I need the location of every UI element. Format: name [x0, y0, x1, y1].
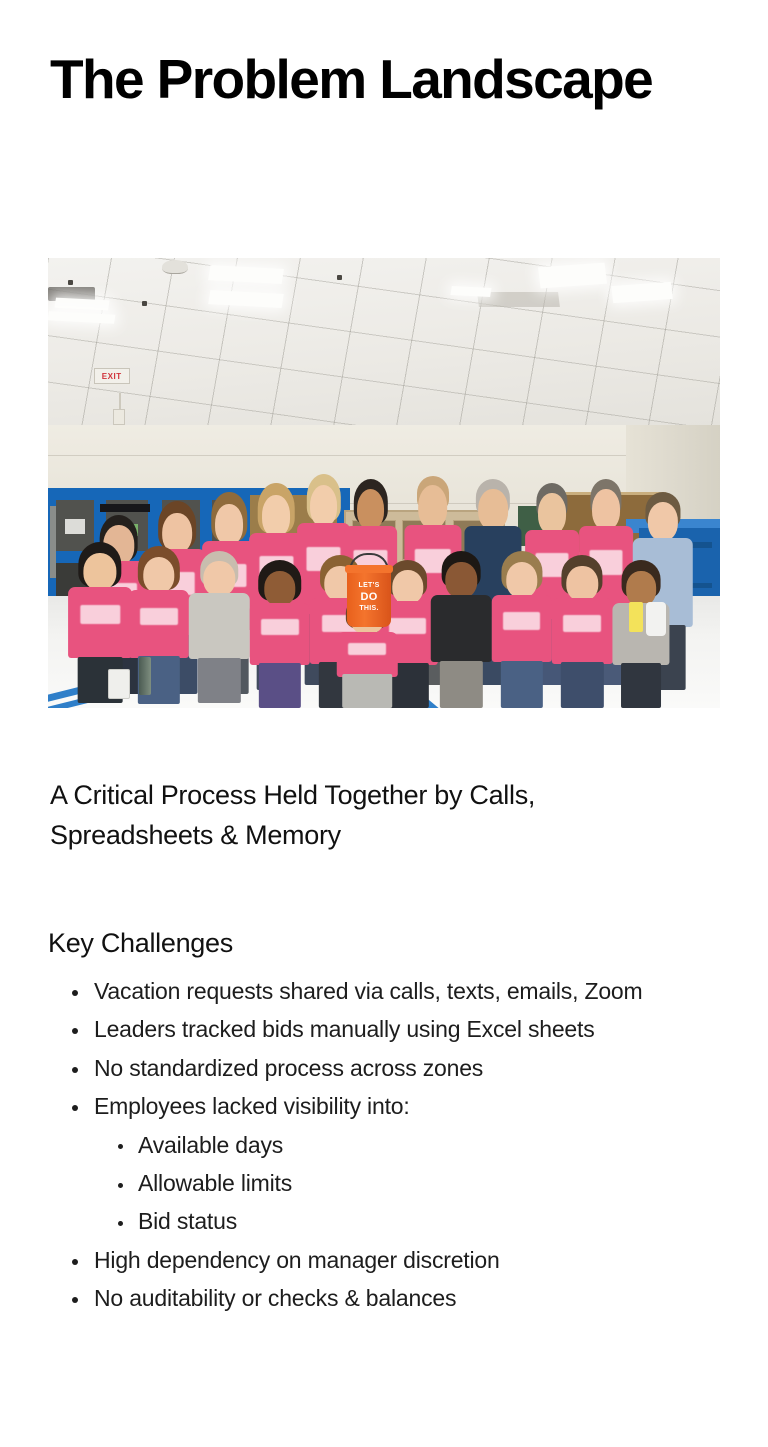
person	[552, 555, 612, 708]
bullet-point-icon	[118, 1183, 123, 1188]
challenge-item-label: No auditability or checks & balances	[94, 1285, 456, 1311]
challenge-item: High dependency on manager discretion	[68, 1241, 738, 1279]
challenge-item-label: Vacation requests shared via calls, text…	[94, 978, 642, 1004]
bullet-point-icon	[118, 1221, 123, 1226]
challenge-bullet-list: Vacation requests shared via calls, text…	[48, 972, 738, 1318]
challenge-item: Leaders tracked bids manually using Exce…	[68, 1010, 738, 1048]
paint-can	[108, 669, 130, 699]
challenge-sub-list: Available daysAllowable limitsBid status	[94, 1126, 738, 1241]
challenge-sub-item: Allowable limits	[116, 1164, 738, 1202]
challenge-item-label: No standardized process across zones	[94, 1055, 483, 1081]
bullet-point-icon	[118, 1144, 123, 1149]
person	[250, 560, 310, 709]
bullet-point-icon	[72, 990, 78, 996]
challenge-sub-item: Bid status	[116, 1202, 738, 1240]
spray-bottle	[629, 602, 643, 632]
slide-subtitle: A Critical Process Held Together by Call…	[50, 776, 700, 856]
challenge-item: No auditability or checks & balances	[68, 1279, 738, 1317]
bucket-text-do: DO	[347, 591, 391, 605]
slide-page: The Problem Landscape	[0, 0, 768, 1447]
bullet-point-icon	[72, 1297, 78, 1303]
volunteer-group: LET'S DO THIS.	[48, 258, 720, 708]
supply-bag	[646, 602, 666, 636]
page-title: The Problem Landscape	[50, 44, 710, 114]
bullet-point-icon	[72, 1067, 78, 1073]
person	[189, 551, 249, 704]
challenge-sub-item-label: Available days	[138, 1132, 283, 1158]
bucket-text-this: THIS.	[359, 605, 378, 612]
group-photo: EXIT	[48, 258, 720, 708]
challenge-item: No standardized process across zones	[68, 1049, 738, 1087]
bullet-point-icon	[72, 1259, 78, 1265]
person	[492, 551, 552, 709]
challenge-item-label: Employees lacked visibility into:	[94, 1093, 410, 1119]
challenge-item-label: High dependency on manager discretion	[94, 1247, 500, 1273]
water-bottle	[139, 657, 151, 695]
bucket-text-lets: LET'S	[359, 582, 380, 589]
person	[431, 551, 491, 709]
photo-canvas: EXIT	[48, 258, 720, 708]
key-challenges-list: Vacation requests shared via calls, text…	[48, 972, 738, 1318]
challenge-item: Employees lacked visibility into:Availab…	[68, 1087, 738, 1241]
bucket-label: LET'S DO THIS.	[347, 582, 391, 613]
challenge-sub-item: Available days	[116, 1126, 738, 1164]
orange-bucket: LET'S DO THIS.	[347, 569, 391, 627]
challenge-item-label: Leaders tracked bids manually using Exce…	[94, 1016, 595, 1042]
bullet-point-icon	[72, 1105, 78, 1111]
section-heading-key-challenges: Key Challenges	[48, 928, 233, 959]
bullet-point-icon	[72, 1028, 78, 1034]
person	[129, 546, 189, 704]
challenge-item: Vacation requests shared via calls, text…	[68, 972, 738, 1010]
challenge-sub-item-label: Bid status	[138, 1208, 237, 1234]
bucket-rim	[345, 565, 393, 573]
challenge-sub-item-label: Allowable limits	[138, 1170, 292, 1196]
